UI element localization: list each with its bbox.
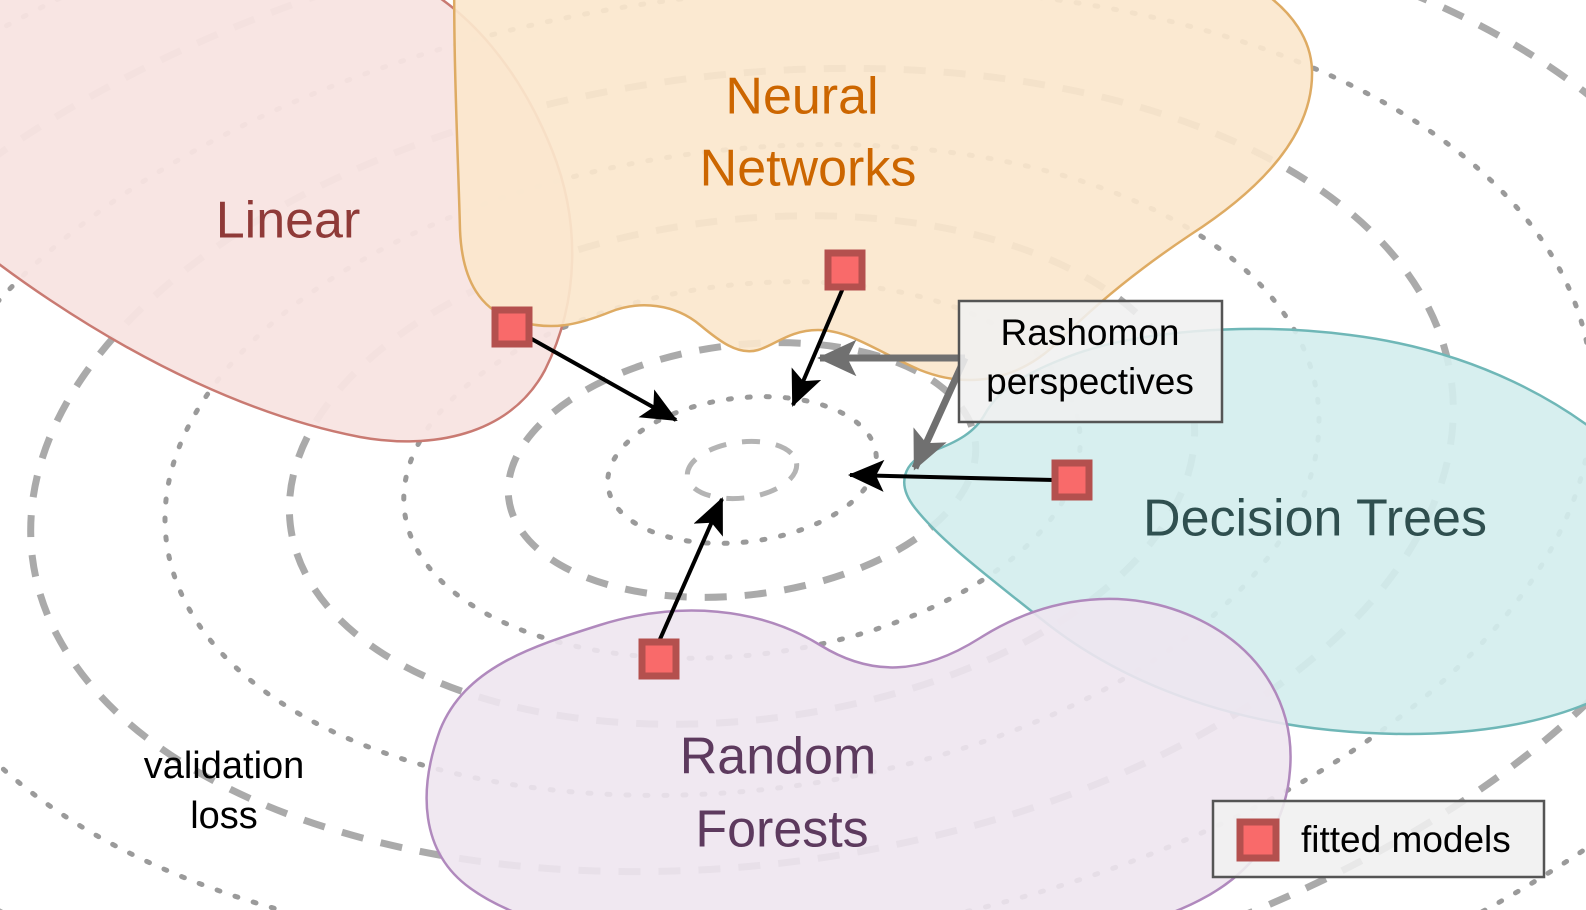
legend[interactable]: fitted models xyxy=(1213,801,1544,877)
diagram-svg: Linear Neural Networks Decision Trees Ra… xyxy=(0,0,1586,910)
contour-ring-1 xyxy=(684,436,800,505)
region-neural-networks-label-line1: Neural xyxy=(725,68,878,126)
region-random-forests-label-line2: Forests xyxy=(695,801,868,859)
fitted-model-marker-random-forests[interactable] xyxy=(642,642,676,676)
region-decision-trees-label: Decision Trees xyxy=(1143,490,1487,548)
region-random-forests[interactable]: Random Forests xyxy=(427,599,1291,910)
fitted-model-marker-neural-networks[interactable] xyxy=(828,253,862,287)
region-neural-networks-label-line2: Networks xyxy=(700,140,917,198)
region-linear-label: Linear xyxy=(216,192,361,250)
arrow-linear-to-center xyxy=(530,338,676,420)
rashomon-callout-line2: perspectives xyxy=(986,361,1194,402)
rashomon-perspectives-callout[interactable]: Rashomon perspectives xyxy=(959,301,1222,422)
region-random-forests-label-line1: Random xyxy=(680,728,877,786)
contour-ring-2 xyxy=(599,382,885,558)
fitted-model-marker-linear[interactable] xyxy=(495,310,529,344)
legend-label-fitted-models: fitted models xyxy=(1301,819,1511,860)
validation-loss-annotation: validation loss xyxy=(144,745,305,837)
figure-canvas: Linear Neural Networks Decision Trees Ra… xyxy=(0,0,1586,910)
legend-swatch-fitted-models xyxy=(1240,822,1276,858)
fitted-model-marker-decision-trees[interactable] xyxy=(1055,463,1089,497)
validation-loss-line2: loss xyxy=(190,795,258,837)
rashomon-callout-line1: Rashomon xyxy=(1001,312,1180,353)
validation-loss-line1: validation xyxy=(144,745,305,787)
